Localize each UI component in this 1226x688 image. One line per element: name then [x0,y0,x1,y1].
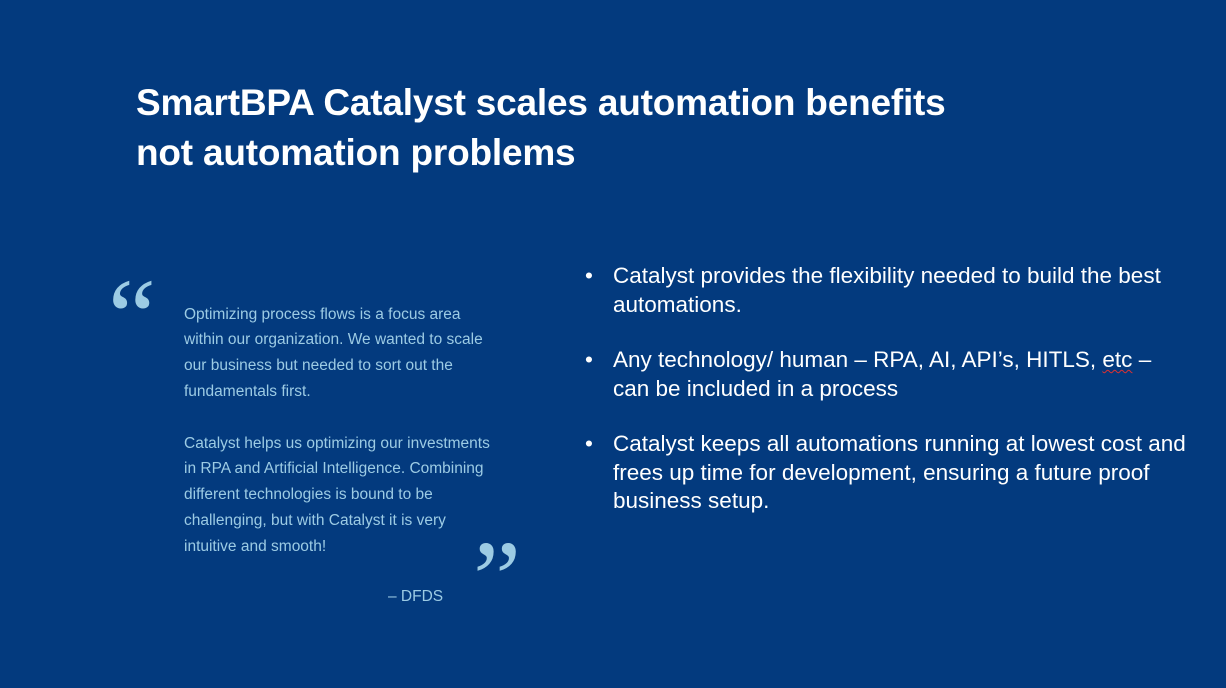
presentation-slide: SmartBPA Catalyst scales automation bene… [0,0,1226,688]
list-item-text: Catalyst keeps all automations running a… [613,430,1191,516]
list-item-text: Catalyst provides the flexibility needed… [613,262,1191,319]
list-item: • Catalyst keeps all automations running… [581,430,1191,516]
quote-paragraph-1: Optimizing process flows is a focus area… [184,302,496,405]
title-line-2: not automation problems [136,128,1076,178]
spellcheck-flagged-word: etc [1102,347,1132,372]
quote-paragraph-2: Catalyst helps us optimizing our investm… [184,431,496,560]
open-quote-icon: “ [108,264,158,372]
list-item: • Catalyst provides the flexibility need… [581,262,1191,319]
quote-attribution: – DFDS [388,586,443,608]
bullet-list: • Catalyst provides the flexibility need… [581,262,1191,516]
quote-text: Optimizing process flows is a focus area… [184,286,496,575]
bullet-marker-icon: • [585,346,593,375]
page-title: SmartBPA Catalyst scales automation bene… [136,78,1076,178]
list-item-text-before: Any technology/ human – RPA, AI, API’s, … [613,347,1102,372]
list-item: • Any technology/ human – RPA, AI, API’s… [581,346,1191,403]
close-quote-icon: ” [473,526,523,634]
bullet-marker-icon: • [585,430,593,459]
title-line-1: SmartBPA Catalyst scales automation bene… [136,78,1076,128]
list-item-text: Any technology/ human – RPA, AI, API’s, … [613,346,1191,403]
bullet-marker-icon: • [585,262,593,291]
